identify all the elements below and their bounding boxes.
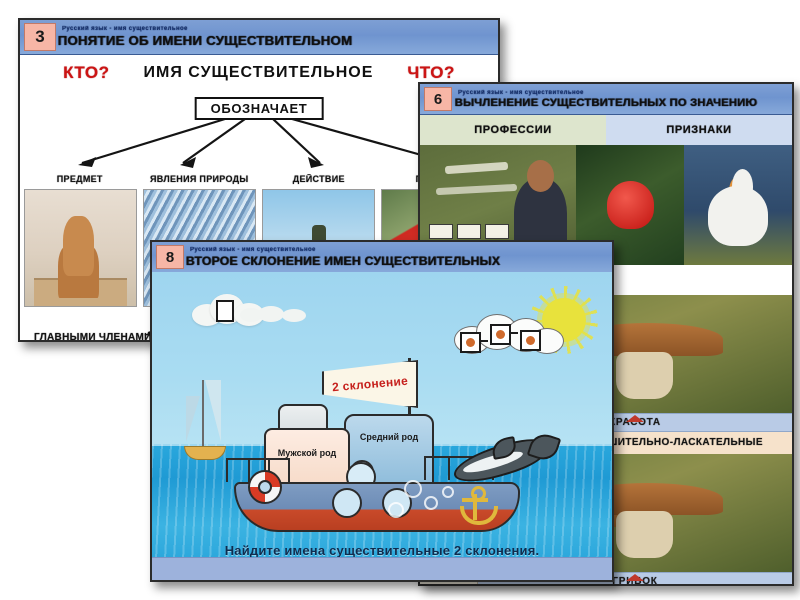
- slide-8-caption: Найдите имена существительные 2 склонени…: [152, 543, 612, 558]
- center-term: ИМЯ СУЩЕСТВИТЕЛЬНОЕ: [143, 64, 373, 82]
- empty-answer-box[interactable]: [216, 300, 234, 322]
- slide-card-8[interactable]: 8 Русский язык - имя существительное ВТО…: [150, 240, 614, 582]
- flag-banner: 2 склонение: [322, 360, 418, 408]
- cloud-icon-box-1[interactable]: [460, 332, 481, 353]
- cabin-label-neuter: Средний род: [354, 432, 424, 443]
- lifering-icon: [248, 470, 282, 504]
- branch-label-1: ЯВЛЕНИЯ ПРИРОДЫ: [140, 174, 260, 189]
- dolphin-icon: [452, 432, 552, 490]
- slide-6-title: ВЫЧЛЕНЕНИЕ СУЩЕСТВИТЕЛЬНЫХ ПО ЗНАЧЕНИЮ: [455, 97, 794, 109]
- anchor-icon: [458, 486, 492, 522]
- slide-3-number: 3: [24, 23, 56, 51]
- slide-3-subtitle: Русский язык - имя существительное: [62, 26, 498, 32]
- column-header-signs: ПРИЗНАКИ: [606, 115, 792, 145]
- slide-3-bottom-note: ГЛАВНЫМИ ЧЛЕНАМИ: [34, 332, 152, 342]
- flag-text: 2 склонение: [331, 374, 408, 395]
- porthole-2: [332, 488, 362, 518]
- slide-6-header: 6 Русский язык - имя существительное ВЫЧ…: [420, 84, 792, 115]
- slide-6-number: 6: [424, 87, 452, 111]
- cloud-icon-box-3[interactable]: [520, 330, 541, 351]
- question-word-left: КТО?: [63, 63, 109, 83]
- slide-8-header-texts: Русский язык - имя существительное ВТОРО…: [190, 242, 612, 272]
- slide-6-subtitle: Русский язык - имя существительное: [458, 89, 792, 95]
- slide-3-header-texts: Русский язык - имя существительное ПОНЯТ…: [62, 20, 498, 54]
- chalk-line-2: [435, 184, 517, 195]
- mushroom-stem-large: [616, 511, 673, 558]
- slide-8-header: 8 Русский язык - имя существительное ВТО…: [152, 242, 612, 273]
- slide-8-title: ВТОРОЕ СКЛОНЕНИЕ ИМЕН СУЩЕСТВИТЕЛЬНЫХ: [186, 254, 614, 268]
- slide-8-footer: [152, 557, 612, 580]
- steam-trail-icon: [240, 306, 316, 322]
- photo-white-swan: [684, 145, 792, 265]
- slide-3-title: ПОНЯТИЕ ОБ ИМЕНИ СУЩЕСТВИТЕЛЬНОМ: [58, 33, 500, 48]
- question-word-right: ЧТО?: [407, 63, 455, 83]
- slide-3-header: 3 Русский язык - имя существительное ПОН…: [20, 20, 498, 55]
- slide-8-subtitle: Русский язык - имя существительное: [190, 246, 612, 252]
- chalk-line-1: [445, 162, 508, 174]
- slide-6-header-texts: Русский язык - имя существительное ВЫЧЛЕ…: [458, 84, 792, 114]
- mushroom-stem-top: [616, 352, 673, 399]
- branch-label-2: ДЕЙСТВИЕ: [259, 174, 379, 189]
- slide-8-number: 8: [156, 245, 184, 269]
- slide-deck-canvas: 3 Русский язык - имя существительное ПОН…: [0, 0, 800, 600]
- sea-scene: 2 склонение Средний род Мужской род: [152, 272, 612, 580]
- branch-label-0: ПРЕДМЕТ: [20, 174, 140, 189]
- word-cards: [429, 224, 509, 239]
- cloud-icon-box-2[interactable]: [490, 324, 511, 345]
- cloud-with-icons: [454, 312, 564, 356]
- thumbnail-cat-on-chair: [24, 189, 137, 307]
- slide-6-column-headers: ПРОФЕССИИ ПРИЗНАКИ: [420, 115, 792, 145]
- column-header-professions: ПРОФЕССИИ: [420, 115, 606, 145]
